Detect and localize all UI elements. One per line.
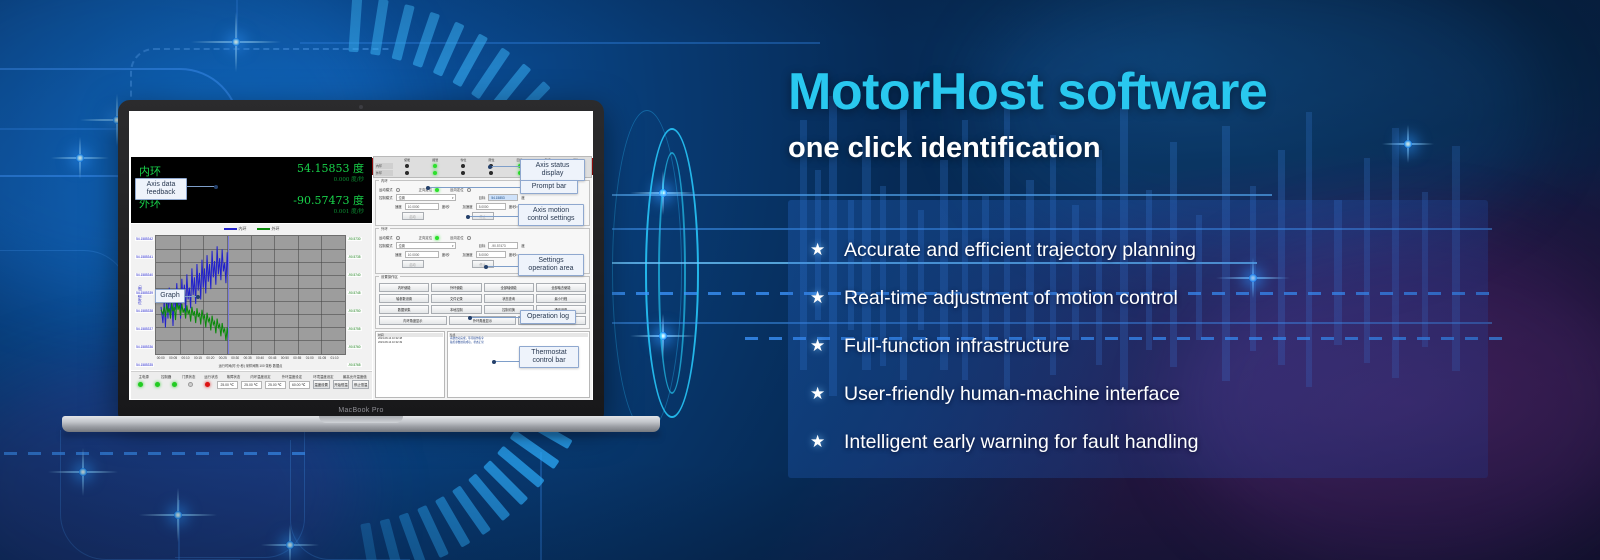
callout-thermostat-control-bar: Thermostat control bar	[519, 346, 579, 368]
laptop-base-shadow	[62, 431, 660, 440]
x-tick: 00:30	[231, 356, 239, 360]
x-tick: 00:50	[281, 356, 289, 360]
y-axis-right: -90.5730 -90.5735 -90.5740 -90.5745 -90.…	[346, 235, 372, 355]
thermostat-label: 控制器	[156, 374, 175, 379]
x-axis: 00:00 00:05 00:10 00:15 00:20 00:25 00:3…	[155, 356, 346, 367]
laptop-base	[62, 416, 660, 432]
ctrl-label: 控制模式	[379, 243, 393, 248]
x-tick: 00:10	[182, 356, 190, 360]
webcam-icon	[359, 105, 363, 109]
speed-input[interactable]: 10.0000	[405, 203, 439, 210]
x-tick: 00:05	[169, 356, 177, 360]
y-tick: 54.1585339	[135, 291, 154, 295]
y-tick-right: -90.5735	[347, 255, 362, 259]
axis-angle-outer: -90.57473 度	[293, 195, 364, 207]
accel-input[interactable]: 5.0000	[476, 203, 506, 210]
callout-operation-log: Operation log	[520, 310, 576, 324]
target-label: 目标	[479, 243, 486, 248]
thermostat-control-bar: 主电源 控制器 门禁状态 运行状态 故障状态 内环温度设定 外环温度设定 环境温…	[131, 371, 372, 399]
axis-rate-inner: 0.000 度/秒	[297, 175, 364, 183]
temp-field-inner[interactable]: 25.00 ℃	[217, 381, 238, 389]
y-tick-right: -90.5755	[347, 327, 362, 331]
log-time: 2023-08-14 10:32:49	[377, 341, 443, 345]
op-button[interactable]: 内环使能	[379, 283, 429, 292]
x-tick: 00:00	[157, 356, 165, 360]
temp-field-outer[interactable]: 25.00 ℃	[241, 381, 262, 389]
start-button-outer[interactable]: 启动	[402, 260, 424, 268]
target-input[interactable]: 54.15853	[488, 194, 518, 201]
y-tick-right: -90.5760	[347, 345, 362, 349]
pos-label: 正向定位	[419, 235, 433, 240]
thermostat-label: 内环温度设定	[246, 374, 274, 379]
feature-text: Full-function infrastructure	[844, 335, 1069, 358]
temp-settings-button[interactable]: 温度设置	[313, 380, 330, 389]
y-tick-right: -90.5750	[347, 309, 362, 313]
legend-item-outer: 外环	[257, 226, 280, 232]
accel-input[interactable]: 5.0000	[476, 251, 506, 258]
thermostat-labels: 主电源 控制器 门禁状态 运行状态 故障状态 内环温度设定 外环温度设定 环境温…	[131, 372, 372, 379]
status-dot	[433, 164, 437, 168]
y-tick: 54.1585336	[135, 345, 154, 349]
status-led-door	[172, 382, 177, 387]
log-time-column: 时间 2023-08-14 10:32:48 2023-08-14 10:32:…	[375, 331, 445, 398]
accel-label: 加速度	[463, 252, 473, 257]
target-input[interactable]: -90.57473	[488, 242, 518, 249]
chart-legend: 内环 外环	[131, 224, 372, 232]
x-tick: 00:15	[194, 356, 202, 360]
op-button[interactable]: 状态查询	[484, 294, 534, 303]
mode-radio-icon[interactable]	[396, 236, 400, 240]
ctrl-row-inner: 控制模式 位置 ▾ 目标 54.15853 度	[379, 194, 586, 201]
banner-stage: BLUE EQUATOR 内环 54.	[0, 0, 1600, 560]
callout-prompt-bar: Prompt bar	[520, 180, 578, 194]
op-button[interactable]: 文件记录	[431, 294, 481, 303]
leader-settings-operation-area	[486, 266, 519, 267]
status-dot	[405, 164, 409, 168]
list-item: ★ Real-time adjustment of motion control	[810, 274, 1490, 322]
feature-text: Accurate and efficient trajectory planni…	[844, 239, 1196, 262]
speed-input[interactable]: 10.0000	[405, 251, 439, 258]
speed-label: 速度	[395, 204, 402, 209]
chevron-down-icon: ▾	[452, 244, 454, 248]
speed-unit: 度/秒	[442, 252, 450, 257]
star-icon: ★	[810, 432, 844, 452]
status-dot	[433, 171, 437, 175]
neg-radio-icon[interactable]	[467, 188, 471, 192]
ctrl-mode-select[interactable]: 位置 ▾	[396, 242, 456, 249]
legend-label-inner: 内环	[239, 226, 247, 232]
op-button[interactable]: 全部轴去使能	[536, 283, 586, 292]
status-header: 限位	[477, 158, 505, 162]
temp-field-ambient[interactable]: 25.00 ℃	[265, 381, 286, 389]
pos-indicator	[435, 236, 439, 240]
x-tick: 00:40	[256, 356, 264, 360]
status-dot	[489, 171, 493, 175]
y-tick: 54.1585337	[135, 327, 154, 331]
y-tick-right: -90.5765	[347, 363, 362, 367]
status-row-label: 外环	[375, 170, 393, 176]
y-tick-right: -90.5740	[347, 273, 362, 277]
mode-row-outer: 运动模式 正向定位 反向定位	[379, 235, 586, 240]
stop-thermostat-button[interactable]: 停止恒温	[352, 380, 369, 389]
leader-axis-data-feedback	[186, 186, 216, 187]
thermostat-label: 故障状态	[224, 374, 243, 379]
axis-rate-outer: 0.001 度/秒	[293, 207, 364, 215]
start-button-inner[interactable]: 启动	[402, 212, 424, 220]
callout-axis-data-feedback: Axis data feedback	[135, 178, 187, 200]
x-tick: 00:20	[206, 356, 214, 360]
accel-unit: 度/秒²	[509, 204, 518, 209]
status-header: 使能	[393, 158, 421, 162]
y-tick-right: -90.5745	[347, 291, 362, 295]
x-tick: 01:10	[331, 356, 339, 360]
op-button[interactable]: 本地控制	[431, 305, 481, 314]
x-tick: 01:05	[318, 356, 326, 360]
feature-list: ★ Accurate and efficient trajectory plan…	[810, 226, 1490, 466]
list-item: ★ Full-function infrastructure	[810, 322, 1490, 370]
callout-graph: Graph	[155, 289, 185, 303]
mode-label: 运动模式	[379, 235, 393, 240]
axis-values-inner: 54.15853 度 0.000 度/秒	[297, 163, 364, 183]
ctrl-mode-value: 位置	[399, 195, 405, 200]
x-tick: 00:25	[219, 356, 227, 360]
status-dot	[461, 171, 465, 175]
start-thermostat-button[interactable]: 开始恒温	[333, 380, 350, 389]
status-dot	[461, 164, 465, 168]
target-label: 目标	[479, 195, 486, 200]
x-tick: 00:45	[268, 356, 276, 360]
speed-label: 速度	[395, 252, 402, 257]
status-led-controller	[155, 382, 160, 387]
axis-angle-inner: 54.15853 度	[297, 163, 364, 175]
status-dot	[405, 171, 409, 175]
feature-text: Intelligent early warning for fault hand…	[844, 431, 1198, 454]
status-header: 报警	[421, 158, 449, 162]
op-button[interactable]: 数据采集	[379, 305, 429, 314]
thermostat-label: 主电源	[134, 374, 153, 379]
thermostat-label: 运行状态	[201, 374, 220, 379]
feature-text: User-friendly human-machine interface	[844, 383, 1180, 406]
list-item: ★ User-friendly human-machine interface	[810, 370, 1490, 418]
status-row-label: 内环	[375, 163, 393, 169]
list-item: ★ Accurate and efficient trajectory plan…	[810, 226, 1490, 274]
y-tick: 54.1585335	[135, 363, 154, 367]
thermostat-label: 门禁状态	[179, 374, 198, 379]
callout-axis-motion-control-settings: Axis motion control settings	[518, 204, 584, 226]
leader-axis-status-display	[490, 166, 522, 167]
x-tick: 00:35	[244, 356, 252, 360]
legend-swatch-outer	[257, 228, 270, 230]
op-button[interactable]: 全部轴使能	[484, 283, 534, 292]
thermostat-label: 环境温度设定	[309, 374, 337, 379]
y-tick: 54.1585342	[135, 237, 154, 241]
star-icon: ★	[810, 288, 844, 308]
status-led-run	[188, 382, 193, 387]
y-axis-title: 内环角度(度)	[137, 285, 142, 304]
y-tick: 54.1585340	[135, 273, 154, 277]
pos-indicator	[435, 188, 439, 192]
page-subtitle: one click identification	[788, 132, 1101, 165]
thermostat-controls: 25.00 ℃ 25.00 ℃ 25.00 ℃ 60.00 ℃ 温度设置 开始恒…	[131, 379, 372, 389]
thermostat-label: 最高允许温度值	[341, 374, 369, 379]
status-header: 零位	[449, 158, 477, 162]
mode-label: 运动模式	[379, 187, 393, 192]
x-tick: 00:55	[293, 356, 301, 360]
op-button[interactable]: 外环使能	[431, 283, 481, 292]
legend-item-inner: 内环	[224, 226, 247, 232]
log-message: 轴控参数校验成功，状态正常	[449, 341, 588, 345]
y-tick-right: -90.5730	[347, 237, 362, 241]
op-button[interactable]: 内环角度显示	[379, 316, 447, 325]
laptop-model-label: MacBook Pro	[118, 407, 604, 414]
mode-radio-icon[interactable]	[396, 188, 400, 192]
y-tick: 54.1585341	[135, 255, 154, 259]
callout-axis-status-display: Axis status display	[520, 159, 585, 181]
star-icon: ★	[810, 240, 844, 260]
target-unit: 度	[521, 243, 524, 248]
target-unit: 度	[521, 195, 524, 200]
callout-settings-operation-area: Settings operation area	[518, 254, 584, 276]
neg-radio-icon[interactable]	[467, 236, 471, 240]
star-icon: ★	[810, 336, 844, 356]
speed-unit: 度/秒	[442, 204, 450, 209]
y-axis-left: 内环角度(度) 54.1585342 54.1585341 54.1585340…	[131, 235, 155, 355]
axis-name-inner: 内环	[139, 163, 161, 179]
legend-label-outer: 外环	[272, 226, 280, 232]
neg-label: 反向定位	[450, 235, 464, 240]
operation-area-title: 设置操作区	[379, 274, 400, 279]
feature-text: Real-time adjustment of motion control	[844, 287, 1178, 310]
ctrl-label: 控制模式	[379, 195, 393, 200]
leader-prompt-bar	[428, 187, 521, 188]
axis-values-outer: -90.57473 度 0.001 度/秒	[293, 195, 364, 215]
x-tick: 01:00	[306, 356, 314, 360]
leader-operation-log	[470, 317, 521, 318]
x-axis-caption: 运行时间(时:分:秒) 采样间隔 100 毫秒 数据点	[155, 363, 346, 368]
ctrl-mode-select[interactable]: 位置 ▾	[396, 194, 456, 201]
op-button[interactable]: 最小行程	[536, 294, 586, 303]
group-title-inner: 内环	[379, 178, 390, 183]
accel-unit: 度/秒²	[509, 252, 518, 257]
thermostat-label: 外环温度设定	[278, 374, 306, 379]
y-tick: 54.1585338	[135, 309, 154, 313]
chevron-down-icon: ▾	[452, 196, 454, 200]
hero-text-panel: MotorHost software one click identificat…	[788, 48, 1548, 478]
status-led-main-power	[138, 382, 143, 387]
page-title: MotorHost software	[788, 62, 1267, 122]
status-led-fault	[205, 382, 210, 387]
group-title-outer: 外环	[379, 226, 390, 231]
accel-label: 加速度	[463, 204, 473, 209]
list-item: ★ Intelligent early warning for fault ha…	[810, 418, 1490, 466]
temp-field-max[interactable]: 60.00 ℃	[289, 381, 310, 389]
leader-axis-motion-control	[468, 216, 519, 217]
leader-thermostat-control-bar	[494, 361, 521, 362]
ctrl-mode-value: 位置	[399, 243, 405, 248]
legend-swatch-inner	[224, 228, 237, 230]
op-button[interactable]: 轴参数设置	[379, 294, 429, 303]
star-icon: ★	[810, 384, 844, 404]
ctrl-row-outer: 控制模式 位置 ▾ 目标 -90.57473 度	[379, 242, 586, 249]
